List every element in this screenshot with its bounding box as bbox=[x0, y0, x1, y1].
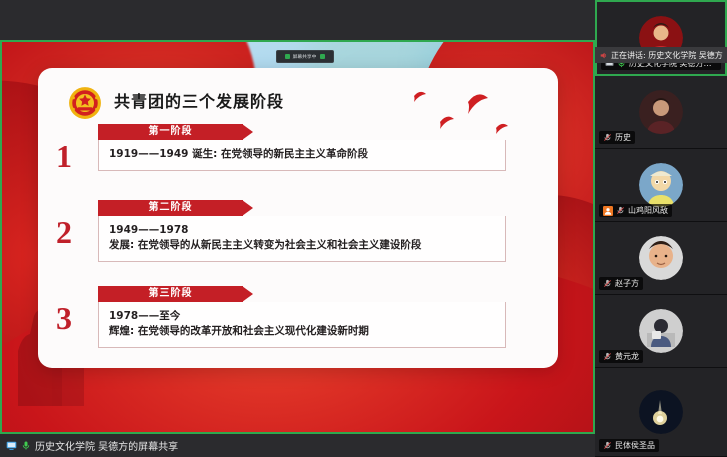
microphone-muted-icon bbox=[616, 206, 625, 215]
avatar-man-face-icon bbox=[639, 236, 683, 280]
microphone-muted-icon bbox=[603, 279, 612, 288]
page-title: 共青团的三个发展阶段 bbox=[114, 88, 284, 112]
microphone-icon bbox=[21, 440, 31, 451]
participant-nametag: 历史 bbox=[599, 131, 635, 144]
share-screen-icon bbox=[285, 54, 290, 59]
avatar-cartoon-character-icon bbox=[639, 163, 683, 207]
participant-name: 赵子方 bbox=[615, 278, 639, 289]
stage-banner-label: 第三阶段 bbox=[98, 286, 243, 302]
avatar bbox=[639, 163, 683, 207]
communist-youth-league-emblem-icon bbox=[68, 86, 102, 120]
avatar bbox=[639, 236, 683, 280]
stage-line: 1978——至今 bbox=[109, 309, 495, 324]
stage-number: 2 bbox=[56, 216, 72, 248]
share-status-label: 历史文化学院 吴德方的屏幕共享 bbox=[35, 438, 178, 453]
participant-name: 历史 bbox=[615, 132, 631, 143]
active-speaker-label: 正在讲话: 历史文化学院 吴德方; bbox=[611, 50, 723, 61]
participant-nametag: 黄元龙 bbox=[599, 350, 643, 363]
stage-banner-arrow bbox=[242, 200, 253, 216]
stage-number: 3 bbox=[56, 302, 72, 334]
avatar-night-light-icon bbox=[639, 390, 683, 434]
stage-banner: 第一阶段 bbox=[98, 124, 258, 140]
participants-rail[interactable]: 历史文化学院 吴德方的屏幕共... 正在讲话: 历史文化学院 吴德方; bbox=[595, 0, 727, 457]
microphone-muted-icon bbox=[603, 441, 612, 450]
stage-body: 1949——1978 发展: 在党领导的从新民主主义转变为社会主义和社会主义建设… bbox=[98, 216, 506, 262]
participant-tile[interactable]: 民体侯圣品 bbox=[595, 368, 727, 457]
screen-share-icon bbox=[6, 440, 17, 451]
stage-block: 2 第二阶段 1949——1978 发展: 在党领导的从新民主主义转变为社会主义… bbox=[98, 200, 506, 262]
participant-name: 山鸡阳风敌 bbox=[628, 205, 668, 216]
participant-nametag: 赵子方 bbox=[599, 277, 643, 290]
participant-nametag: 民体侯圣品 bbox=[599, 439, 659, 452]
participant-name: 民体侯圣品 bbox=[615, 440, 655, 451]
shared-screen-region[interactable]: 共青团的三个发展阶段 1 bbox=[0, 40, 595, 434]
slide-card: 共青团的三个发展阶段 1 bbox=[38, 68, 558, 368]
speaker-icon bbox=[599, 51, 608, 60]
stage-banner-label: 第一阶段 bbox=[98, 124, 243, 140]
avatar-dark-portrait-icon bbox=[639, 90, 683, 134]
participant-tile[interactable]: 赵子方 bbox=[595, 222, 727, 295]
stage-banner-arrow bbox=[242, 124, 253, 140]
share-toolbar-label: 屏幕共享中 bbox=[293, 53, 317, 60]
screen-share-toolbar[interactable]: 屏幕共享中 bbox=[276, 50, 334, 63]
stage-line: 辉煌: 在党领导的改革开放和社会主义现代化建设新时期 bbox=[109, 324, 495, 339]
stage-banner-arrow bbox=[242, 286, 253, 302]
stop-share-icon[interactable] bbox=[320, 54, 325, 59]
participant-tile[interactable]: 山鸡阳风敌 bbox=[595, 149, 727, 222]
share-status-bar: 历史文化学院 吴德方的屏幕共享 bbox=[0, 434, 595, 457]
participant-tile[interactable]: 历史文化学院 吴德方的屏幕共... bbox=[595, 0, 727, 76]
stage-line: 1949——1978 bbox=[109, 223, 495, 238]
participant-tile[interactable]: 黄元龙 bbox=[595, 295, 727, 368]
participant-tile[interactable]: 历史 bbox=[595, 76, 727, 149]
microphone-muted-icon bbox=[603, 133, 612, 142]
stage-banner: 第二阶段 bbox=[98, 200, 258, 216]
avatar bbox=[639, 390, 683, 434]
avatar bbox=[639, 309, 683, 353]
presentation-slide: 共青团的三个发展阶段 1 bbox=[0, 40, 595, 434]
top-strip bbox=[0, 0, 595, 40]
participant-nametag: 山鸡阳风敌 bbox=[599, 204, 672, 217]
host-badge-icon bbox=[603, 206, 613, 216]
stage-block: 3 第三阶段 1978——至今 辉煌: 在党领导的改革开放和社会主义现代化建设新… bbox=[98, 286, 506, 348]
participant-name: 黄元龙 bbox=[615, 351, 639, 362]
meeting-window: 共青团的三个发展阶段 1 bbox=[0, 0, 727, 457]
avatar bbox=[639, 90, 683, 134]
stage-line: 发展: 在党领导的从新民主主义转变为社会主义和社会主义建设阶段 bbox=[109, 238, 495, 253]
stage-body: 1919——1949 诞生: 在党领导的新民主主义革命阶段 bbox=[98, 140, 506, 171]
active-speaker-banner: 正在讲话: 历史文化学院 吴德方; bbox=[595, 47, 727, 63]
stage-line: 1919——1949 诞生: 在党领导的新民主主义革命阶段 bbox=[109, 147, 495, 162]
stage-number: 1 bbox=[56, 140, 72, 172]
stage-body: 1978——至今 辉煌: 在党领导的改革开放和社会主义现代化建设新时期 bbox=[98, 302, 506, 348]
stage-banner: 第三阶段 bbox=[98, 286, 258, 302]
microphone-muted-icon bbox=[603, 352, 612, 361]
stage-block: 1 第一阶段 1919——1949 诞生: 在党领导的新民主主义革命阶段 bbox=[98, 124, 506, 171]
avatar-person-at-desk-icon bbox=[639, 309, 683, 353]
stage-banner-label: 第二阶段 bbox=[98, 200, 243, 216]
